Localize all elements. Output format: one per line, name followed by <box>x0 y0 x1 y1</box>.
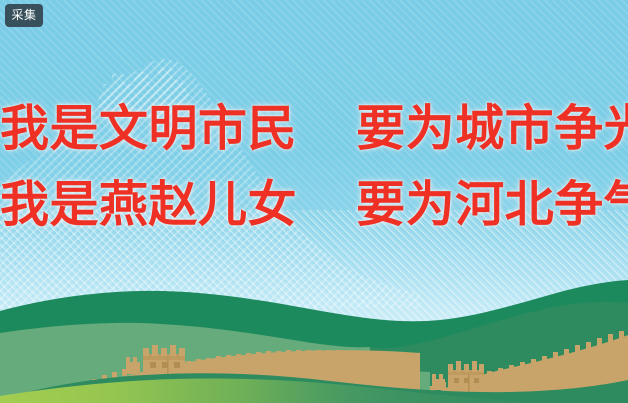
capture-button[interactable]: 采集 <box>5 4 43 27</box>
banner-image: 我是文明市民 要为城市争光 我是燕赵儿女 要为河北争气 <box>0 0 628 403</box>
hill-bottom-highlight <box>0 0 628 403</box>
